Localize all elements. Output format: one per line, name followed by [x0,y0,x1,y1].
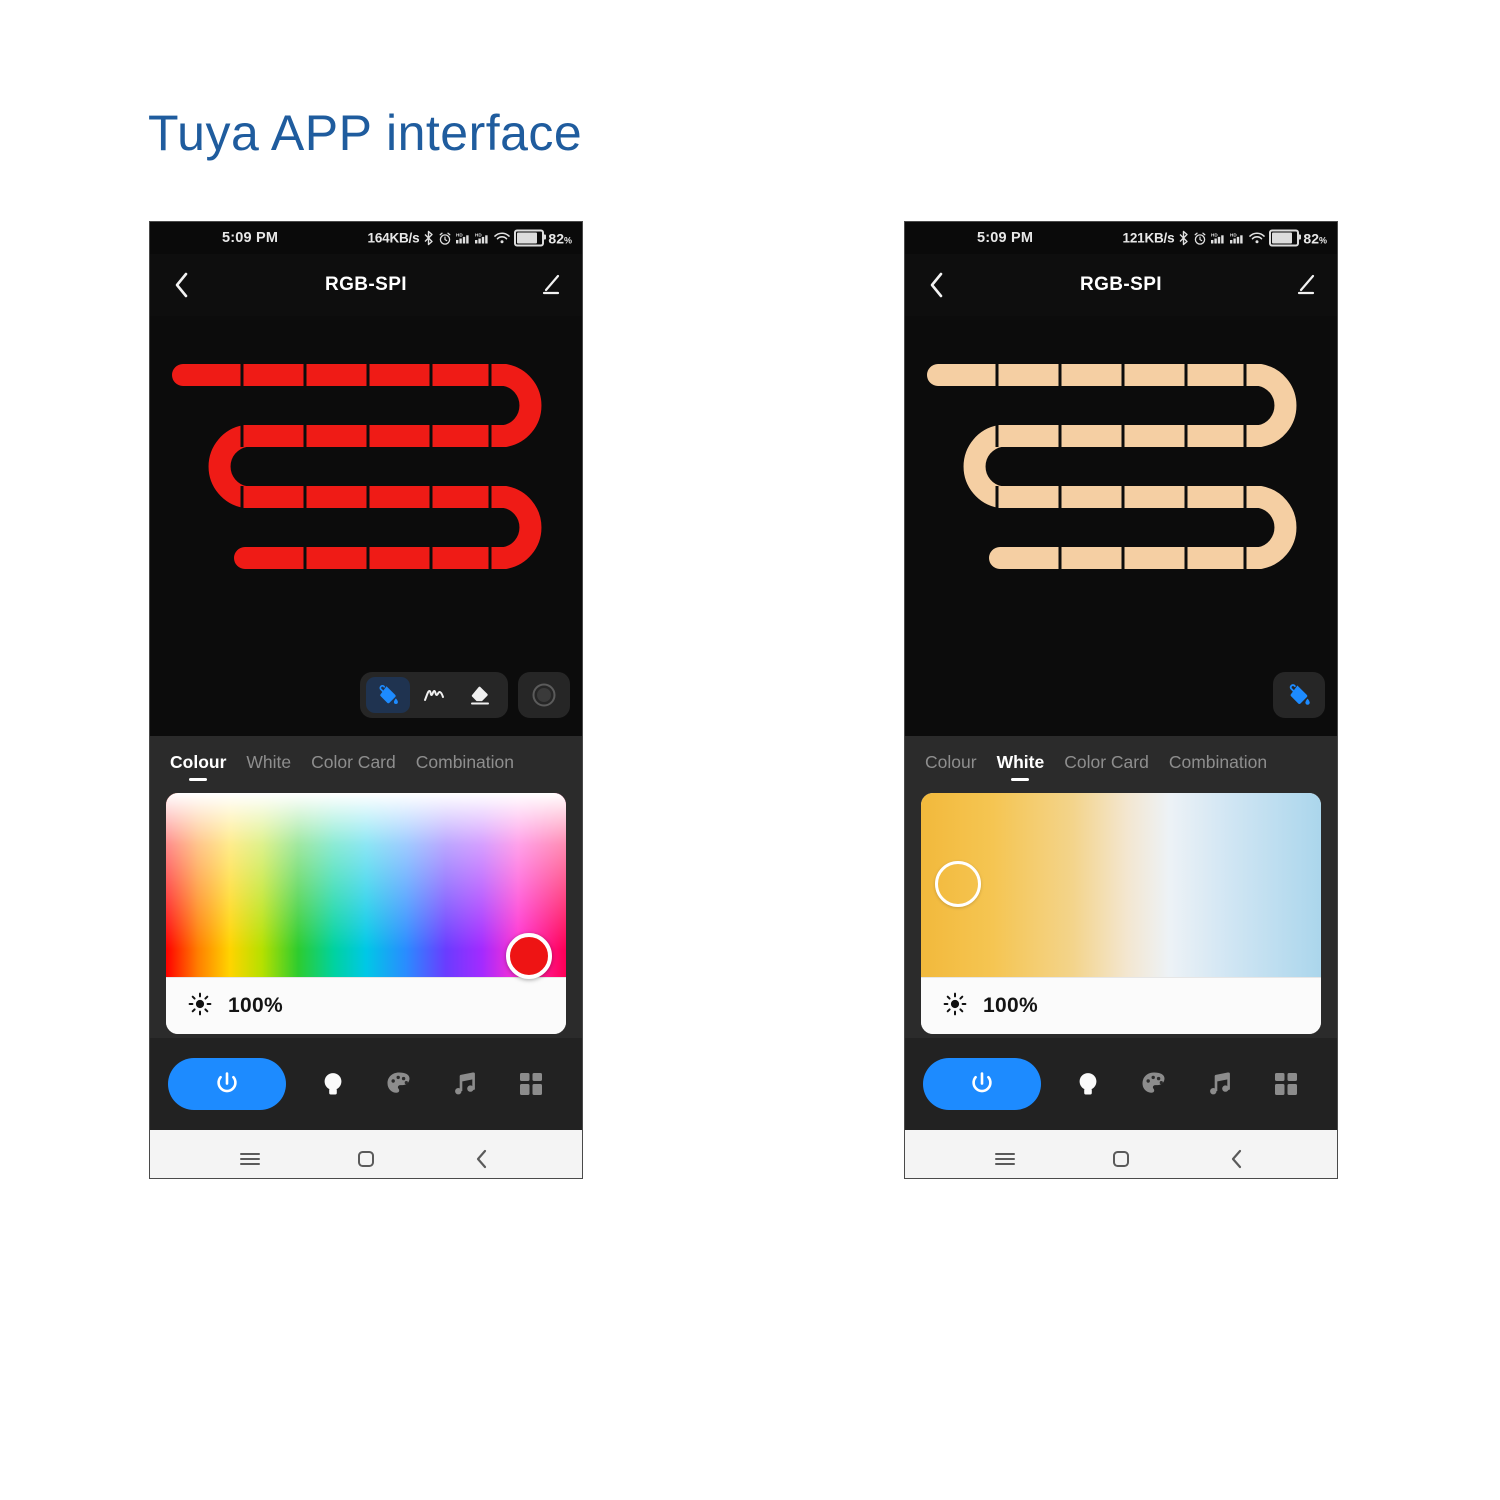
svg-text:HD: HD [1211,233,1218,238]
tab-colour[interactable]: Colour [170,752,226,783]
control-panel: Colour White Color Card Combination 100% [150,736,582,1038]
back-button[interactable] [919,268,953,302]
music-button[interactable] [442,1061,488,1107]
status-battery-percent: 82% [548,230,572,246]
nav-home-button[interactable] [343,1139,389,1178]
app-bar: RGB-SPI [905,254,1337,316]
phone-screenshot-left: 5:09 PM 164KB/s HD HD 82% R [150,222,582,1178]
tool-group [360,672,508,718]
signal-icon-1: HD [456,232,471,245]
scene-button[interactable] [508,1061,554,1107]
mode-tabs: Colour White Color Card Combination [905,736,1337,791]
brightness-value: 100% [983,994,1038,1018]
status-time: 5:09 PM [977,230,1033,246]
tab-colour[interactable]: Colour [925,752,977,783]
pencil-edit-icon[interactable] [534,268,568,302]
app-bar: RGB-SPI [150,254,582,316]
color-selection-marker[interactable] [935,861,981,907]
status-network-speed: 121KB/s [1123,231,1175,246]
power-button[interactable] [923,1058,1041,1110]
phone-screenshot-right: 5:09 PM 121KB/s HD HD 82% RGB- [905,222,1337,1178]
signal-icon-2: HD [475,232,490,245]
brightness-sun-icon [188,992,212,1021]
tab-white[interactable]: White [246,752,291,783]
brightness-slider-row[interactable]: 100% [166,977,566,1034]
battery-icon [514,230,544,247]
mode-tabs: Colour White Color Card Combination [150,736,582,791]
battery-icon [1269,230,1299,247]
wifi-icon [494,232,510,245]
color-picker-card: 100% [166,793,566,1034]
bottom-action-bar [905,1038,1337,1130]
nav-back-button[interactable] [1214,1139,1260,1178]
white-light-button[interactable] [310,1061,356,1107]
control-panel: Colour White Color Card Combination 100% [905,736,1337,1038]
led-preview-stage[interactable] [150,316,582,736]
color-selection-marker[interactable] [506,933,552,979]
tool-row [1273,672,1325,718]
page-title: Tuya APP interface [148,106,582,161]
colour-button[interactable] [376,1061,422,1107]
scene-button[interactable] [1263,1061,1309,1107]
white-light-button[interactable] [1065,1061,1111,1107]
bottom-action-bar [150,1038,582,1130]
brightness-slider-row[interactable]: 100% [921,977,1321,1034]
status-bar: 5:09 PM 121KB/s HD HD 82% [905,222,1337,254]
tab-combination[interactable]: Combination [416,752,514,783]
nav-back-button[interactable] [459,1139,505,1178]
white-temperature-picker-card: 100% [921,793,1321,1034]
brush-tool[interactable] [412,677,456,713]
android-nav-bar [150,1130,582,1178]
tab-combination[interactable]: Combination [1169,752,1267,783]
wifi-icon [1249,232,1265,245]
back-button[interactable] [164,268,198,302]
signal-icon-2: HD [1230,232,1245,245]
power-button[interactable] [168,1058,286,1110]
tool-row [360,672,570,718]
signal-icon-1: HD [1211,232,1226,245]
pencil-edit-icon[interactable] [1289,268,1323,302]
tab-color-card[interactable]: Color Card [311,752,396,783]
led-preview-stage[interactable] [905,316,1337,736]
brightness-sun-icon [943,992,967,1021]
led-strip-graphic [905,340,1337,590]
brightness-value: 100% [228,994,283,1018]
alarm-icon [438,231,452,245]
color-swatch-button[interactable] [518,672,570,718]
tab-color-card[interactable]: Color Card [1064,752,1149,783]
led-strip-graphic [150,340,582,590]
nav-recents-button[interactable] [982,1139,1028,1178]
android-nav-bar [905,1130,1337,1178]
nav-home-button[interactable] [1098,1139,1144,1178]
status-battery-percent: 82% [1303,230,1327,246]
white-temperature-picker[interactable] [921,793,1321,977]
tab-white[interactable]: White [997,752,1045,783]
page-header-title: RGB-SPI [1080,274,1162,296]
alarm-icon [1193,231,1207,245]
paint-bucket-tool[interactable] [366,677,410,713]
bluetooth-icon [423,231,434,246]
page-header-title: RGB-SPI [325,274,407,296]
paint-bucket-tool[interactable] [1273,672,1325,718]
hue-saturation-picker[interactable] [166,793,566,977]
music-button[interactable] [1197,1061,1243,1107]
status-time: 5:09 PM [222,230,278,246]
svg-text:HD: HD [456,233,463,238]
status-bar: 5:09 PM 164KB/s HD HD 82% [150,222,582,254]
status-network-speed: 164KB/s [368,231,420,246]
svg-text:HD: HD [475,233,482,238]
svg-text:HD: HD [1230,233,1237,238]
bluetooth-icon [1178,231,1189,246]
nav-recents-button[interactable] [227,1139,273,1178]
colour-button[interactable] [1131,1061,1177,1107]
eraser-tool[interactable] [458,677,502,713]
